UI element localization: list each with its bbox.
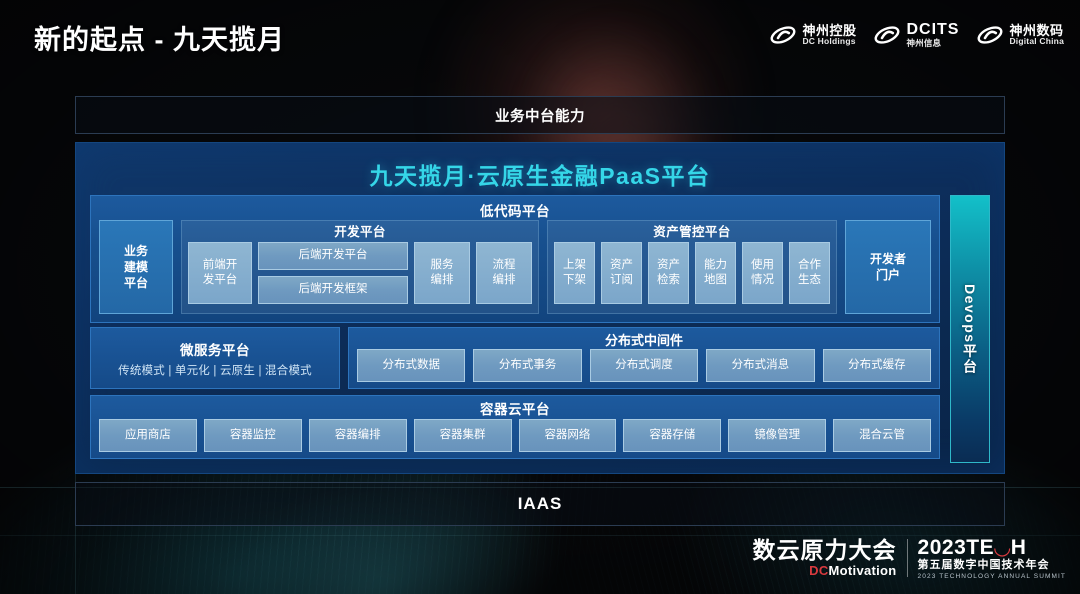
logo-dc-holdings: 神州控股 DC Holdings (770, 24, 856, 47)
front-end-line-1: 前端开 (203, 258, 238, 273)
distributed-middleware-title: 分布式中间件 (349, 328, 939, 349)
front-end-line-2: 发平台 (203, 273, 238, 288)
architecture-diagram: 业务中台能力 九天揽月·云原生金融PaaS平台 低代码平台 业务 建模 平台 (75, 96, 1005, 520)
asset-item-2-line-1: 资产 (657, 258, 680, 273)
process-orch-line-2: 编排 (493, 273, 516, 288)
biz-model-line-2: 建模 (124, 259, 148, 275)
chip-asset-search[interactable]: 资产 检索 (648, 242, 689, 304)
asset-item-2-line-2: 检索 (657, 273, 680, 288)
event-logo: 数云原力大会 DCMotivation 2023TE◡H 第五届数字中国技术年会… (753, 536, 1066, 580)
band-top-label: 业务中台能力 (495, 105, 585, 126)
event-logo-divider (907, 539, 908, 577)
band-business-middle-platform: 业务中台能力 (75, 96, 1005, 134)
card-business-modeling-platform[interactable]: 业务 建模 平台 (99, 220, 173, 314)
devops-platform-label: Devops平台 (960, 284, 980, 375)
asset-item-1-line-2: 订阅 (610, 273, 633, 288)
development-platform-title: 开发平台 (188, 223, 532, 242)
chip-backend-dev-platform[interactable]: 后端开发平台 (258, 242, 408, 270)
paas-platform-panel: 九天揽月·云原生金融PaaS平台 低代码平台 业务 建模 平台 (75, 142, 1005, 474)
service-orch-line-1: 服务 (431, 258, 454, 273)
low-code-platform-row: 低代码平台 业务 建模 平台 开发平台 (90, 195, 940, 323)
box-distributed-middleware: 分布式中间件 分布式数据 分布式事务 分布式调度 分布式消息 分布式缓存 (348, 327, 940, 389)
chip-service-orchestration[interactable]: 服务 编排 (414, 242, 470, 304)
chip-front-end-dev-platform[interactable]: 前端开 发平台 (188, 242, 252, 304)
low-code-platform-title: 低代码平台 (91, 196, 939, 220)
event-year-tail: H (1011, 536, 1027, 559)
box-microservice-platform[interactable]: 微服务平台 传统模式 | 单元化 | 云原生 | 混合模式 (90, 327, 340, 389)
dcits-swirl-logo-icon (874, 24, 900, 46)
chip-distributed-transaction[interactable]: 分布式事务 (473, 349, 581, 382)
asset-item-4-line-2: 情况 (751, 273, 774, 288)
logo-label-en: 神州信息 (906, 39, 959, 48)
band-iaas: IAAS (75, 482, 1005, 526)
event-name-cn: 数云原力大会 (753, 539, 897, 562)
chip-process-orchestration[interactable]: 流程 编排 (476, 242, 532, 304)
container-cloud-row: 容器云平台 应用商店 容器监控 容器编排 容器集群 容器网络 容器存储 镜像管理… (90, 395, 940, 459)
chip-asset-listing[interactable]: 上架 下架 (554, 242, 595, 304)
asset-management-platform-title: 资产管控平台 (554, 223, 830, 242)
asset-item-5-line-2: 生态 (798, 273, 821, 288)
biz-model-line-1: 业务 (124, 243, 148, 259)
chip-asset-subscription[interactable]: 资产 订阅 (601, 242, 642, 304)
microservice-platform-title: 微服务平台 (180, 339, 250, 359)
page-title: 新的起点 - 九天揽月 (34, 18, 285, 57)
paas-platform-title: 九天揽月·云原生金融PaaS平台 (76, 143, 1004, 191)
devops-platform-rail[interactable]: Devops平台 (950, 195, 990, 463)
logo-label-en: DC Holdings (802, 37, 856, 46)
chip-distributed-data[interactable]: 分布式数据 (357, 349, 465, 382)
chip-distributed-messaging[interactable]: 分布式消息 (706, 349, 814, 382)
chip-distributed-scheduling[interactable]: 分布式调度 (590, 349, 698, 382)
asset-item-3-line-2: 地图 (704, 273, 727, 288)
developer-portal-line-2: 门户 (870, 267, 906, 283)
chip-partner-ecosystem[interactable]: 合作 生态 (789, 242, 830, 304)
chip-container-cluster[interactable]: 容器集群 (414, 419, 512, 452)
brand-logo-group: 神州控股 DC Holdings DCITS 神州信息 神州数码 (770, 22, 1064, 48)
event-swirl-icon: ◡ (994, 536, 1011, 559)
process-orch-line-1: 流程 (493, 258, 516, 273)
slide-header: 新的起点 - 九天揽月 神州控股 DC Holdings DCITS 神州信息 (0, 0, 1080, 72)
card-developer-portal[interactable]: 开发者 门户 (845, 220, 931, 314)
microservice-platform-subtitle: 传统模式 | 单元化 | 云原生 | 混合模式 (118, 362, 312, 378)
stack-backend-dev: 后端开发平台 后端开发框架 (258, 242, 408, 304)
band-bottom-label: IAAS (518, 494, 563, 514)
event-name-en-suffix: Motivation (829, 563, 897, 578)
microservice-middleware-row: 微服务平台 传统模式 | 单元化 | 云原生 | 混合模式 分布式中间件 分布式… (90, 327, 940, 389)
chip-distributed-cache[interactable]: 分布式缓存 (823, 349, 931, 382)
event-subtitle-cn: 第五届数字中国技术年会 (918, 559, 1066, 571)
event-year: 2023TE (918, 536, 995, 559)
chip-container-storage[interactable]: 容器存储 (623, 419, 721, 452)
container-cloud-title: 容器云平台 (91, 396, 939, 418)
chip-app-store[interactable]: 应用商店 (99, 419, 197, 452)
asset-item-4-line-1: 使用 (751, 258, 774, 273)
service-orch-line-2: 编排 (431, 273, 454, 288)
chip-hybrid-cloud-management[interactable]: 混合云管 (833, 419, 931, 452)
chip-container-monitoring[interactable]: 容器监控 (204, 419, 302, 452)
event-name-en-prefix: DC (809, 563, 828, 578)
event-subtitle-en: 2023 TECHNOLOGY ANNUAL SUMMIT (918, 573, 1066, 580)
digital-china-swirl-logo-icon (977, 24, 1003, 46)
logo-label-cn: 神州控股 (802, 24, 856, 38)
chip-capability-map[interactable]: 能力 地图 (695, 242, 736, 304)
logo-dcits: DCITS 神州信息 (874, 22, 959, 48)
developer-portal-line-1: 开发者 (870, 251, 906, 267)
asset-item-3-line-1: 能力 (704, 258, 727, 273)
logo-label-en: Digital China (1009, 37, 1064, 46)
group-asset-management-platform: 资产管控平台 上架 下架 资产 (547, 220, 837, 314)
logo-label-cn: DCITS (906, 22, 959, 39)
asset-item-0-line-2: 下架 (563, 273, 586, 288)
chip-container-orchestration[interactable]: 容器编排 (309, 419, 407, 452)
chip-usage-status[interactable]: 使用 情况 (742, 242, 783, 304)
biz-model-line-3: 平台 (124, 275, 148, 291)
chip-container-network[interactable]: 容器网络 (519, 419, 617, 452)
group-development-platform: 开发平台 前端开 发平台 后端开发平台 (181, 220, 539, 314)
asset-item-5-line-1: 合作 (798, 258, 821, 273)
logo-label-cn: 神州数码 (1009, 24, 1064, 38)
chip-image-management[interactable]: 镜像管理 (728, 419, 826, 452)
logo-digital-china: 神州数码 Digital China (977, 24, 1064, 47)
asset-item-1-line-1: 资产 (610, 258, 633, 273)
chip-backend-dev-framework[interactable]: 后端开发框架 (258, 276, 408, 304)
dc-swirl-logo-icon (770, 24, 796, 46)
asset-item-0-line-1: 上架 (563, 258, 586, 273)
